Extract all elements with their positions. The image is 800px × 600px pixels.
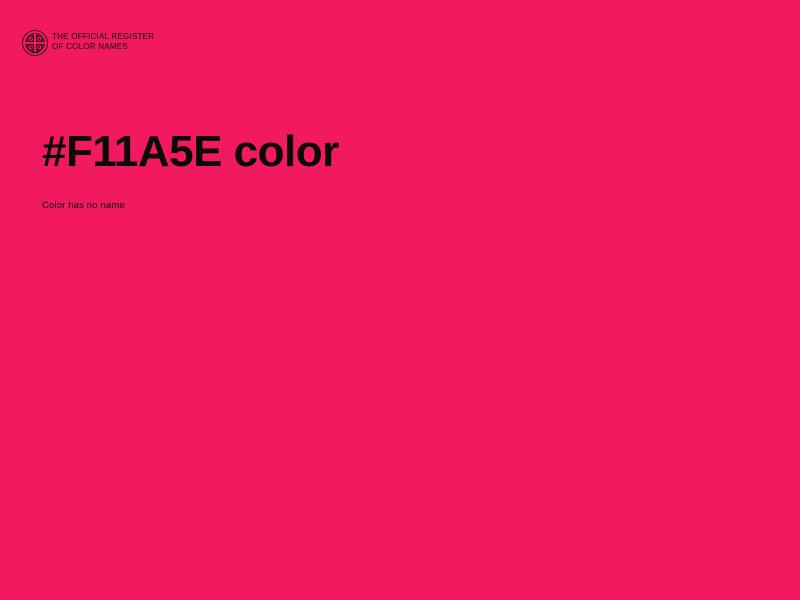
brand-lockup[interactable]: THE OFFICIAL REGISTER OF COLOR NAMES [22,30,154,56]
brand-wordmark: THE OFFICIAL REGISTER OF COLOR NAMES [52,30,154,52]
brand-line-2: OF COLOR NAMES [52,42,154,52]
register-seal-icon [22,30,48,56]
page-title: #F11A5E color [42,128,742,176]
color-page: THE OFFICIAL REGISTER OF COLOR NAMES #F1… [0,0,800,600]
color-info-block: #F11A5E color Color has no name [42,128,742,212]
color-swatch-area [0,230,800,600]
color-name-status: Color has no name [42,176,742,212]
brand-line-1: THE OFFICIAL REGISTER [52,32,154,42]
